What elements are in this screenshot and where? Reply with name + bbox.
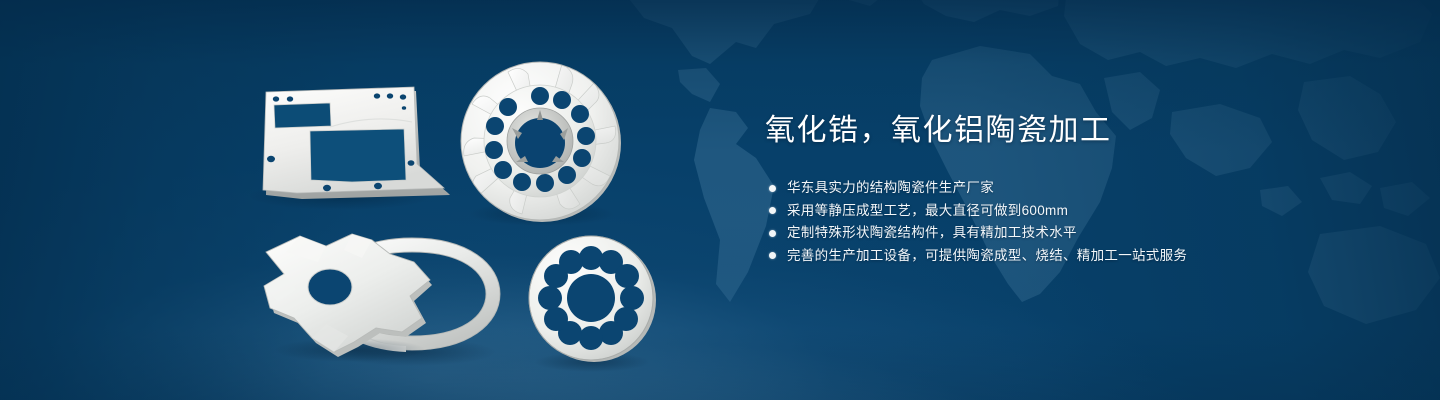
list-item-label: 定制特殊形状陶瓷结构件，具有精加工技术水平 — [787, 222, 1077, 244]
list-item-label: 华东具实力的结构陶瓷件生产厂家 — [787, 177, 994, 199]
ceramic-star-part — [264, 234, 432, 362]
bullet-dot-icon — [769, 230, 776, 237]
list-item: 采用等静压成型工艺，最大直径可做到600mm — [765, 200, 1385, 222]
hero-banner: 氧化锆，氧化铝陶瓷加工 华东具实力的结构陶瓷件生产厂家 采用等静压成型工艺，最大… — [0, 0, 1440, 400]
list-item: 定制特殊形状陶瓷结构件，具有精加工技术水平 — [765, 222, 1385, 244]
bullet-dot-icon — [769, 185, 776, 192]
list-item: 华东具实力的结构陶瓷件生产厂家 — [765, 177, 1385, 199]
banner-copy: 氧化锆，氧化铝陶瓷加工 华东具实力的结构陶瓷件生产厂家 采用等静压成型工艺，最大… — [765, 112, 1385, 267]
list-item-label: 采用等静压成型工艺，最大直径可做到600mm — [787, 200, 1068, 222]
bullet-dot-icon — [769, 252, 776, 259]
list-item-label: 完善的生产加工设备，可提供陶瓷成型、烧结、精加工一站式服务 — [787, 245, 1187, 267]
page-title: 氧化锆，氧化铝陶瓷加工 — [765, 112, 1385, 150]
feature-list: 华东具实力的结构陶瓷件生产厂家 采用等静压成型工艺，最大直径可做到600mm 定… — [765, 177, 1385, 267]
list-item: 完善的生产加工设备，可提供陶瓷成型、烧结、精加工一站式服务 — [765, 245, 1385, 267]
bullet-dot-icon — [769, 207, 776, 214]
ceramic-plate-part — [248, 87, 450, 210]
ceramic-flange-part — [529, 236, 656, 372]
ceramic-products-image — [0, 0, 720, 400]
ceramic-impeller-part — [461, 62, 621, 226]
